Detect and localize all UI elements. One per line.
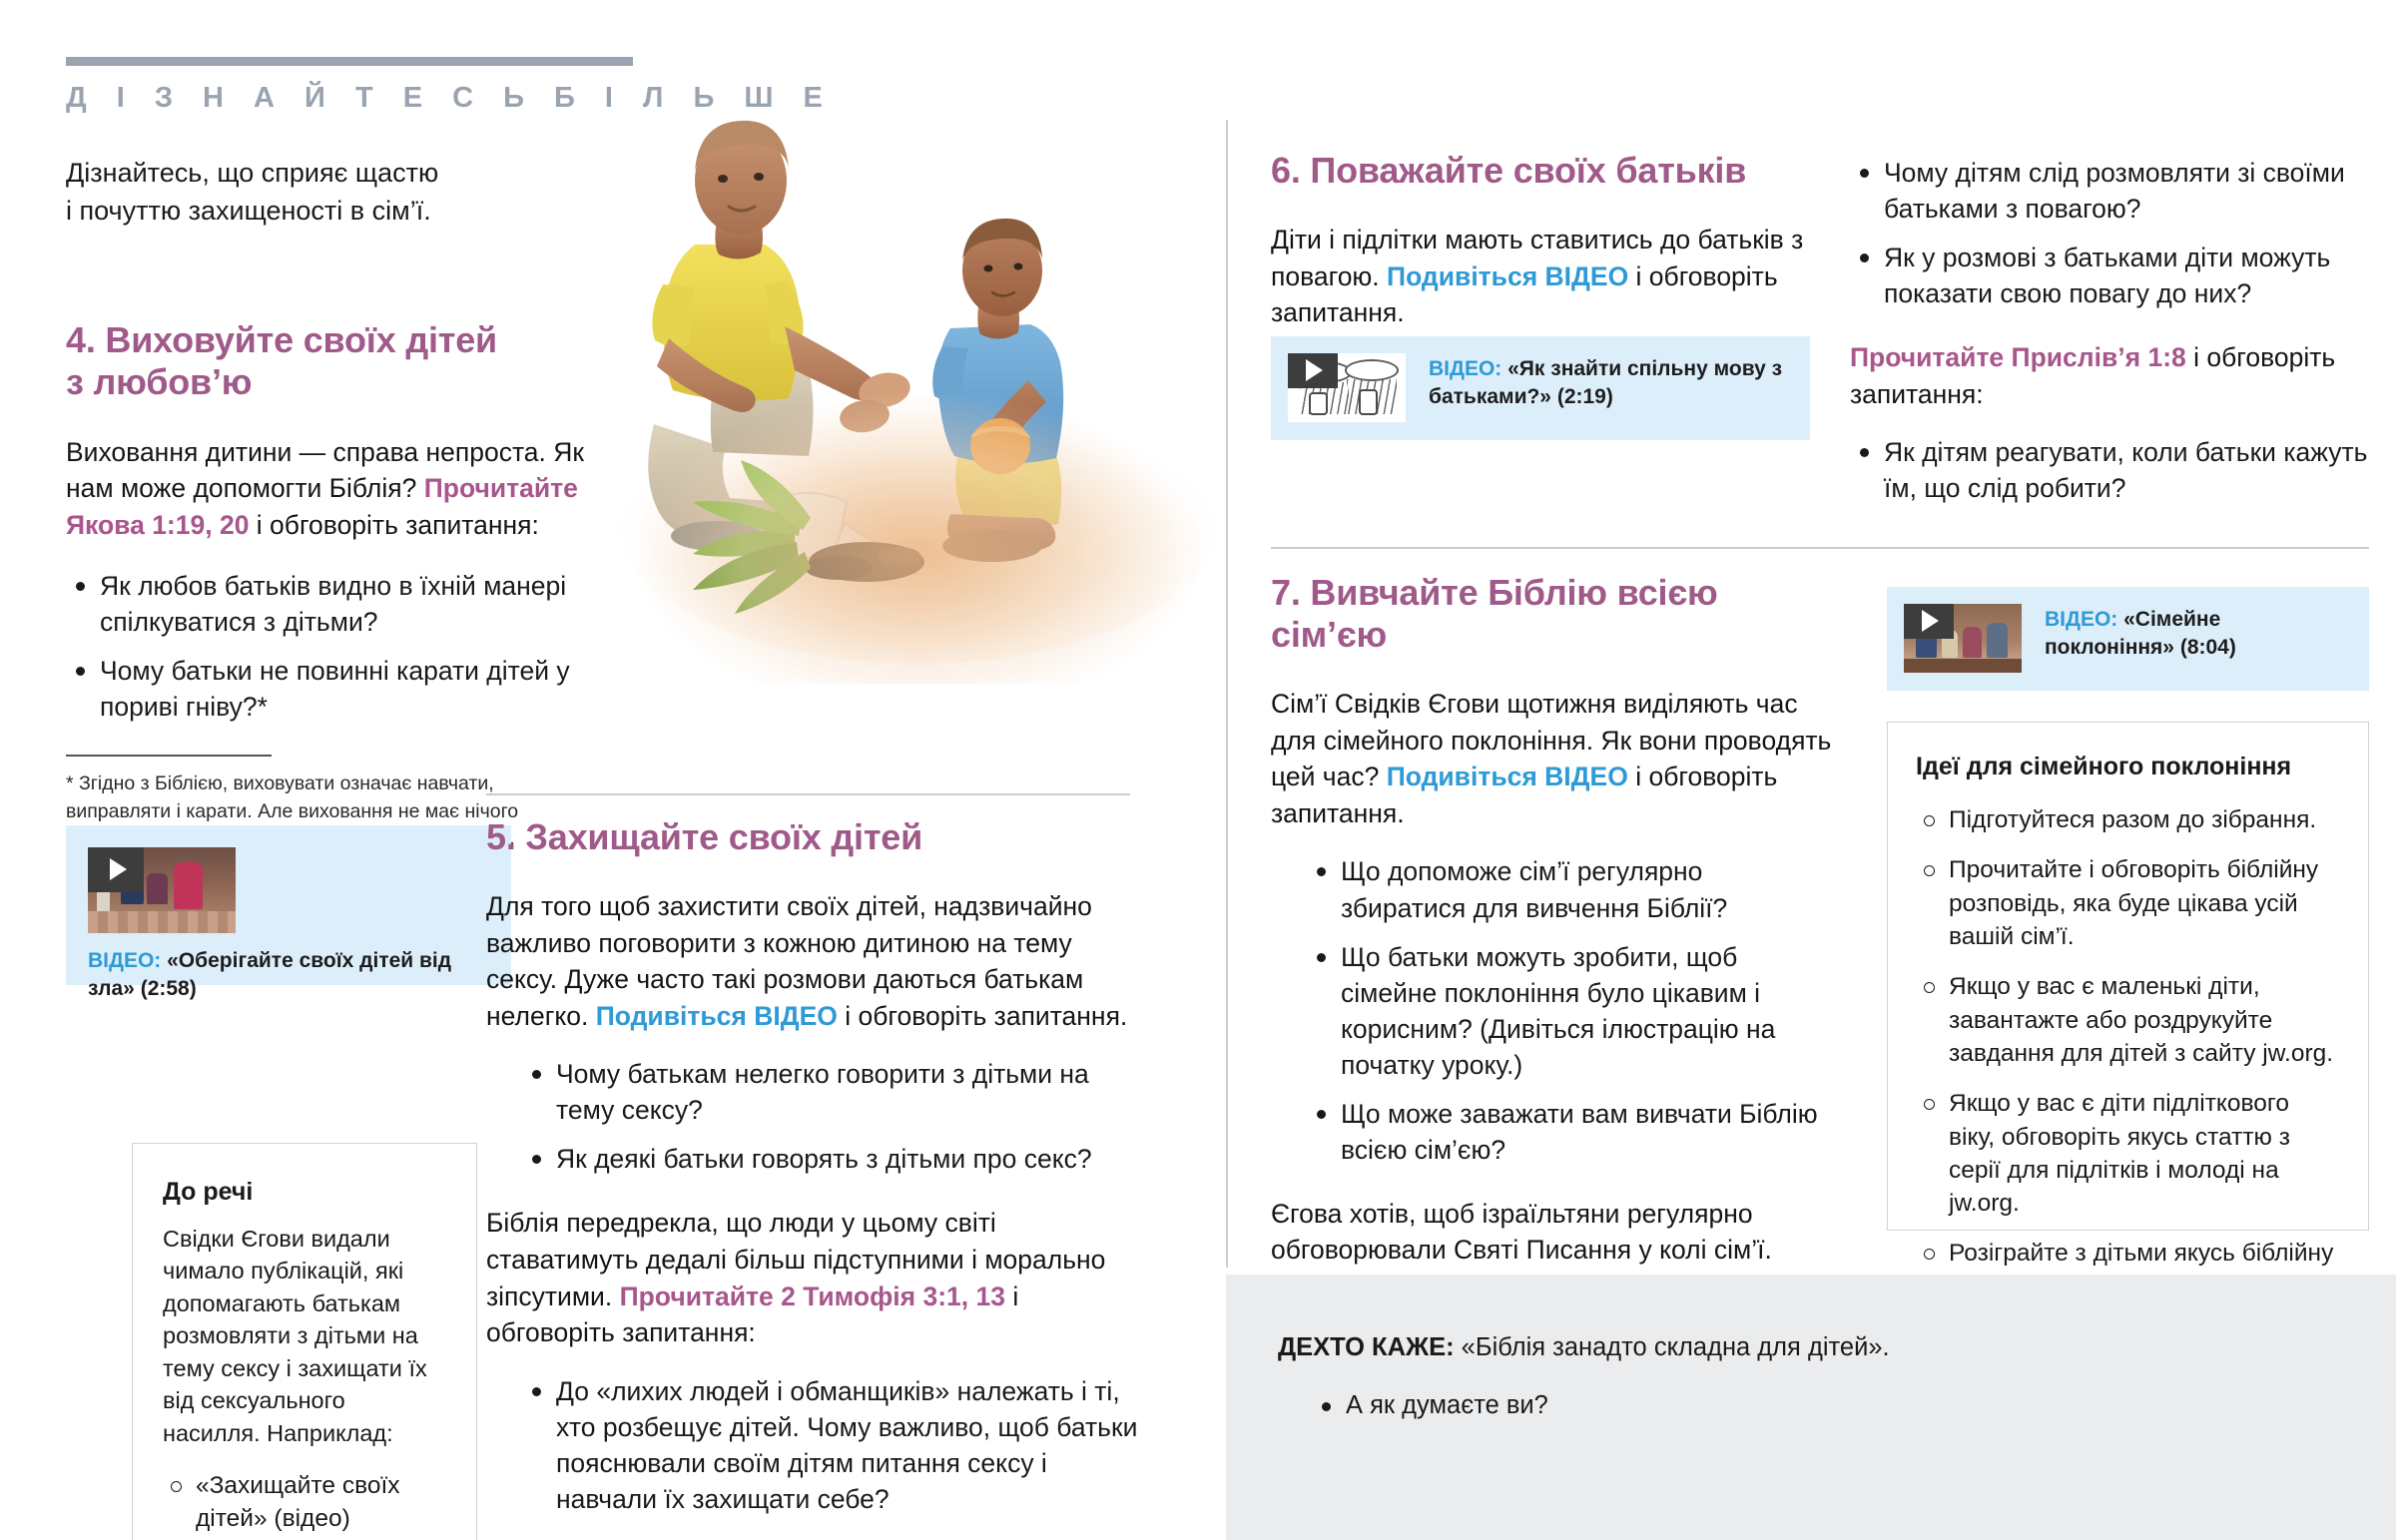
header-rule xyxy=(66,57,633,66)
scripture-link-proverbs[interactable]: Прочитайте Прислів’я 1:8 xyxy=(1850,342,2186,372)
video-caption: ВІДЕО: «Оберігайте своїх дітей від зла» … xyxy=(88,947,487,1002)
father-and-son-with-broken-pot-illustration xyxy=(599,95,1238,694)
section-4-question-list: Як любов батьків видно в їхній манері сп… xyxy=(66,568,585,725)
section-6-question-list-2: Як дітям реагувати, коли батьки кажуть ї… xyxy=(1850,434,2369,506)
list-item: Прочитайте і обговоріть біблійну розпові… xyxy=(1916,853,2338,953)
list-item: Підготуйтеся разом до зібрання. xyxy=(1916,803,2338,836)
page-root: Д І З Н А Й Т Е С Ь Б І Л Ь Ш Е xyxy=(0,0,2396,1540)
section-7-heading: 7. Вивчайте Біблію всією сім’єю xyxy=(1271,572,1835,656)
list-item: Як деякі батьки говорять з дітьми про се… xyxy=(522,1141,1145,1177)
list-item: Як любов батьків видно в їхній манері сп… xyxy=(66,568,585,640)
video-label: ВІДЕО: xyxy=(2045,608,2117,631)
some-people-say-statement: ДЕХТО КАЖЕ: «Біблія занадто складна для … xyxy=(1278,1330,2356,1366)
family-worship-ideas-box: Ідеї для сімейного поклоніння Підготуйте… xyxy=(1887,722,2369,1231)
video-label: ВІДЕО: xyxy=(1429,357,1501,380)
watch-video-link-7[interactable]: Подивіться ВІДЕО xyxy=(1387,762,1628,791)
list-item: Що батьки можуть зробити, щоб сімейне по… xyxy=(1307,939,1835,1083)
section-6-paragraph: Діти і підлітки мають ставитись до батьк… xyxy=(1271,222,1810,331)
play-icon[interactable] xyxy=(1904,604,1954,639)
did-you-know-box: До речі Свідки Єгови видали чимало публі… xyxy=(132,1143,477,1540)
section-5-paragraph-2: Біблія передрекла, що люди у цьому світі… xyxy=(486,1205,1145,1350)
section-6-heading: 6. Поважайте своїх батьків xyxy=(1271,150,1810,192)
list-item: Чому батьки не повинні карати дітей у по… xyxy=(66,653,585,725)
video-thumbnail[interactable] xyxy=(1288,353,1406,422)
scripture-link-timothy[interactable]: Прочитайте 2 Тимофія 3:1, 13 xyxy=(620,1282,1005,1311)
section-5-heading: 5. Захищайте своїх дітей xyxy=(486,816,1145,858)
list-item: Як у розмові з батьками діти можуть пока… xyxy=(1850,240,2369,311)
list-item: Чому батькам нелегко говорити з дітьми н… xyxy=(522,1056,1145,1128)
video-thumbnail[interactable] xyxy=(88,847,236,933)
footnote-rule xyxy=(66,755,272,757)
section-5-question-list-1: Чому батькам нелегко говорити з дітьми н… xyxy=(486,1056,1145,1177)
section-7-paragraph-1: Сім’ї Свідків Єгови щотижня виділяють ча… xyxy=(1271,686,1835,831)
video-label: ВІДЕО: xyxy=(88,949,161,972)
section-7-text-pre-2: Єгова хотів, щоб ізраїльтяни регулярно о… xyxy=(1271,1199,1772,1266)
some-people-say-label: ДЕХТО КАЖЕ: xyxy=(1278,1333,1455,1361)
did-you-know-title: До речі xyxy=(163,1178,446,1207)
list-item: Як дітям реагувати, коли батьки кажуть ї… xyxy=(1850,434,2369,506)
list-item: Що може заважати вам вивчати Біблію всіє… xyxy=(1307,1096,1835,1168)
some-people-say-bar: ДЕХТО КАЖЕ: «Біблія занадто складна для … xyxy=(1226,1275,2396,1540)
some-people-say-quote: «Біблія занадто складна для дітей». xyxy=(1455,1333,1890,1361)
list-item: А як думаєте ви? xyxy=(1312,1388,2356,1423)
section-5-text-post: і обговоріть запитання. xyxy=(838,1001,1127,1031)
section-5-question-list-2: До «лихих людей і обманщиків» належать і… xyxy=(486,1373,1145,1517)
list-item: Чому дітям слід розмовляти зі своїми бат… xyxy=(1850,155,2369,227)
section-6-column: 6. Поважайте своїх батьків Діти і підліт… xyxy=(1271,150,1810,331)
intro-line-2: і почуттю захищеності в сім’ї. xyxy=(66,196,431,226)
list-item: «Захищайте своїх дітей» (відео) xyxy=(163,1469,446,1536)
middle-column: 5. Захищайте своїх дітей Для того щоб за… xyxy=(486,816,1145,1517)
left-column: Дізнайтесь, що сприяє щастю і почуттю за… xyxy=(66,155,585,853)
did-you-know-body: Свідки Єгови видали чимало публікацій, я… xyxy=(163,1223,446,1449)
video-card-protect-children[interactable]: ВІДЕО: «Оберігайте своїх дітей від зла» … xyxy=(66,825,511,985)
column-divider xyxy=(1226,120,1228,1268)
watch-video-link-5[interactable]: Подивіться ВІДЕО xyxy=(596,1001,838,1031)
watch-video-link-6[interactable]: Подивіться ВІДЕО xyxy=(1387,261,1628,291)
section-7-top-rule xyxy=(1271,547,2369,549)
video-thumbnail[interactable] xyxy=(1904,604,2022,673)
list-item: До «лихих людей і обманщиків» належать і… xyxy=(522,1373,1145,1517)
ideas-box-title: Ідеї для сімейного поклоніння xyxy=(1916,753,2338,781)
intro-paragraph: Дізнайтесь, що сприяє щастю і почуттю за… xyxy=(66,155,585,231)
list-item: Якщо у вас є маленькі діти, завантажте а… xyxy=(1916,970,2338,1070)
list-item: Якщо у вас є діти підліткового віку, обг… xyxy=(1916,1087,2338,1220)
intro-line-1: Дізнайтесь, що сприяє щастю xyxy=(66,158,438,188)
section-4-heading-line-1: 4. Виховуйте своїх дітей xyxy=(66,319,497,360)
list-item: Що допоможе сім’ї регулярно збиратися дл… xyxy=(1307,853,1835,925)
section-6-questions-column: Чому дітям слід розмовляти зі своїми бат… xyxy=(1850,155,2369,506)
play-icon[interactable] xyxy=(88,847,144,892)
some-people-say-question-list: А як думаєте ви? xyxy=(1278,1388,2356,1423)
video-caption: ВІДЕО: «Сімейне поклоніння» (8:04) xyxy=(2045,606,2354,661)
section-4-heading-line-2: з любов’ю xyxy=(66,361,252,402)
section-5-paragraph-1: Для того щоб захистити своїх дітей, надз… xyxy=(486,888,1145,1034)
video-card-common-ground[interactable]: ВІДЕО: «Як знайти спільну мову з батькам… xyxy=(1271,336,1810,440)
did-you-know-list: «Захищайте своїх дітей» (відео) «Навчайс… xyxy=(163,1469,446,1540)
video-card-family-worship[interactable]: ВІДЕО: «Сімейне поклоніння» (8:04) xyxy=(1887,587,2369,691)
section-4-paragraph: Виховання дитини — справа непроста. Як н… xyxy=(66,434,585,544)
section-7-question-list-1: Що допоможе сім’ї регулярно збиратися дл… xyxy=(1271,853,1835,1167)
section-6-read-paragraph: Прочитайте Прислів’я 1:8 і обговоріть за… xyxy=(1850,339,2369,412)
illustration-glow xyxy=(639,394,1198,684)
section-4-heading: 4. Виховуйте своїх дітей з любов’ю xyxy=(66,319,585,403)
section-6-question-list-1: Чому дітям слід розмовляти зі своїми бат… xyxy=(1850,155,2369,311)
section-4-text-post: і обговоріть запитання: xyxy=(249,510,538,540)
video-caption: ВІДЕО: «Як знайти спільну мову з батькам… xyxy=(1429,355,1788,410)
play-icon[interactable] xyxy=(1288,353,1338,388)
section-5-top-rule xyxy=(486,793,1130,795)
